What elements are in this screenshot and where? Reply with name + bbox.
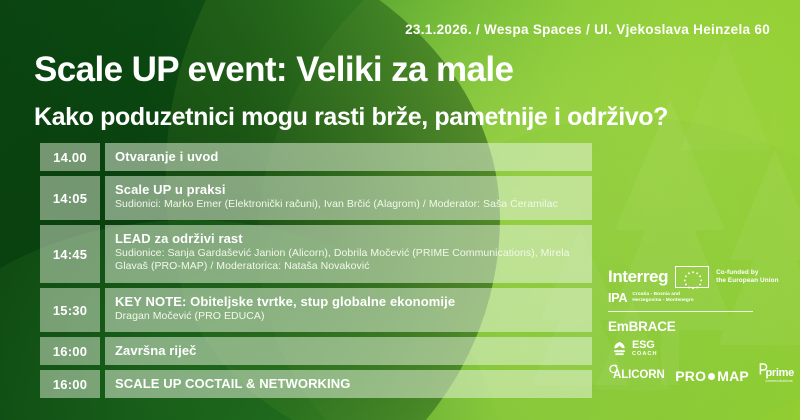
prime-mark-icon [759, 363, 768, 375]
schedule-table: 14.00 Otvaranje i uvod 14:05 Scale UP u … [40, 143, 592, 403]
interreg-logo-block: Interreg [608, 266, 788, 334]
row-title: LEAD za održivi rast [115, 231, 582, 246]
table-row: 16:00 SCALE UP COCTAIL & NETWORKING [40, 370, 592, 398]
row-time: 16:00 [40, 337, 100, 365]
promap-wordmark-right: MAP [717, 368, 749, 384]
row-body: SCALE UP COCTAIL & NETWORKING [105, 370, 592, 398]
row-body: Scale UP u praksi Sudionici: Marko Emer … [105, 176, 592, 220]
row-details: Sudionice: Sanja Gardašević Janion (Alic… [115, 247, 582, 273]
promap-logo: PRO MAP [675, 368, 749, 384]
eu-flag-icon [675, 266, 709, 288]
esg-wordmark: ESG [632, 340, 658, 351]
event-poster: 23.1.2026. / Wespa Spaces / Ul. Vjekosla… [0, 0, 800, 420]
table-row: 14:45 LEAD za održivi rast Sudionice: Sa… [40, 225, 592, 283]
event-meta-line: 23.1.2026. / Wespa Spaces / Ul. Vjekosla… [405, 22, 770, 37]
eu-cofunded-text: Co-funded by the European Union [716, 269, 779, 285]
table-row: 14.00 Otvaranje i uvod [40, 143, 592, 171]
ipa-row: IPA Croatia - Bosnia and Herzegovina - M… [608, 291, 788, 305]
row-time: 14:05 [40, 176, 100, 220]
row-details: Sudionici: Marko Emer (Elektronički raču… [115, 198, 582, 211]
interreg-wordmark: Interreg [608, 267, 668, 287]
table-row: 16:00 Završna riječ [40, 337, 592, 365]
promap-wordmark-left: PRO [675, 368, 706, 384]
row-details: Dragan Močević (PRO EDUCA) [115, 310, 582, 323]
eu-cofunded-line-1: Co-funded by [716, 269, 779, 277]
interreg-row: Interreg [608, 266, 788, 288]
prime-tagline: communications [760, 380, 794, 383]
ipa-subtitle-line-2: Herzegovina - Montenegro [632, 298, 693, 304]
row-time: 14:45 [40, 225, 100, 283]
embrace-wordmark: EmBRACE [608, 319, 788, 334]
row-title: Završna riječ [115, 343, 582, 358]
row-body: Otvaranje i uvod [105, 143, 592, 171]
row-title: SCALE UP COCTAIL & NETWORKING [115, 376, 582, 391]
prime-logo: prime communications [760, 368, 794, 383]
row-title: KEY NOTE: Obiteljske tvrtke, stup global… [115, 294, 582, 309]
row-time: 14.00 [40, 143, 100, 171]
alicorn-mark-icon [608, 363, 619, 374]
leaf-icon [612, 341, 627, 357]
page-subtitle: Kako poduzetnici mogu rasti brže, pametn… [34, 103, 668, 132]
ipa-wordmark: IPA [608, 291, 627, 305]
row-body: Završna riječ [105, 337, 592, 365]
row-time: 15:30 [40, 288, 100, 332]
table-row: 15:30 KEY NOTE: Obiteljske tvrtke, stup … [40, 288, 592, 332]
promap-dot-icon [708, 373, 715, 380]
logo-divider [608, 311, 753, 312]
row-title: Scale UP u praksi [115, 182, 582, 197]
table-row: 14:05 Scale UP u praksi Sudionici: Marko… [40, 176, 592, 220]
ipa-subtitle: Croatia - Bosnia and Herzegovina - Monte… [632, 292, 693, 304]
row-title: Otvaranje i uvod [115, 149, 582, 164]
row-body: LEAD za održivi rast Sudionice: Sanja Ga… [105, 225, 592, 283]
row-time: 16:00 [40, 370, 100, 398]
eu-cofunded-line-2: the European Union [716, 277, 779, 285]
page-title: Scale UP event: Veliki za male [34, 50, 513, 90]
row-body: KEY NOTE: Obiteljske tvrtke, stup global… [105, 288, 592, 332]
esg-text: ESG COACH [632, 340, 658, 358]
esg-coach-logo: ESG COACH [612, 340, 658, 358]
alicorn-logo: ALICORN [608, 370, 665, 382]
partner-logos: ALICORN PRO MAP prime communications [608, 368, 794, 384]
esg-coach-label: COACH [632, 352, 658, 358]
